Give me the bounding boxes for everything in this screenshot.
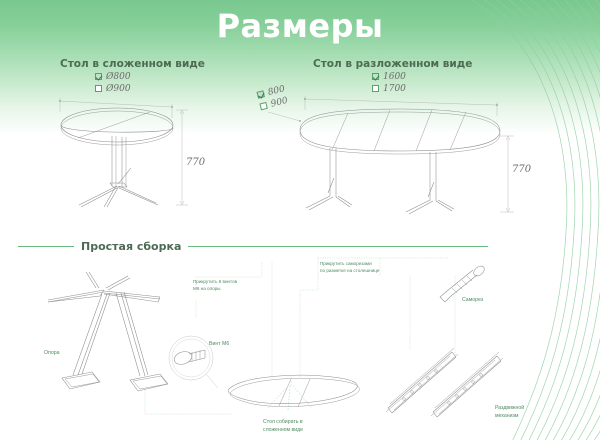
- assembly-divider: Простая сборка: [18, 240, 488, 253]
- dimension-height-folded: 770: [186, 157, 205, 168]
- option-diameter-900[interactable]: Ø900: [95, 83, 131, 94]
- assembly-note-bolts: Прикрутить 8 винтов М6 на опоры: [193, 279, 237, 292]
- option-label: 1700: [383, 84, 406, 94]
- part-label-screw: Саморез: [462, 297, 483, 305]
- checkbox-unchecked-icon[interactable]: [259, 102, 267, 110]
- assembly-heading: Простая сборка: [81, 240, 181, 253]
- drawing-sliding-rails: [386, 348, 503, 417]
- part-label-bolt: Винт М6: [209, 341, 229, 349]
- drawing-support-legs: [48, 272, 168, 391]
- option-label: Ø900: [106, 84, 131, 94]
- option-group-diameter: Ø800 Ø900: [95, 71, 131, 95]
- option-length-1600[interactable]: 1600: [372, 71, 406, 82]
- assembly-connector-lines: [145, 258, 455, 414]
- checkbox-unchecked-icon[interactable]: [372, 85, 379, 92]
- part-label-mechanism: Раздвижной механизм: [495, 405, 524, 420]
- option-label: Ø800: [106, 72, 131, 82]
- checkbox-checked-icon[interactable]: [256, 90, 264, 98]
- section-heading-opened: Стол в разложенном виде: [313, 58, 472, 70]
- tabletop-assembly-note: Стол собирать в сложенном виде: [263, 419, 303, 434]
- divider-line-right: [188, 246, 488, 247]
- checkbox-checked-icon[interactable]: [372, 73, 379, 80]
- option-diameter-800[interactable]: Ø800: [95, 71, 131, 82]
- page-title: Размеры: [0, 7, 600, 45]
- assembly-note-screws: Прикрутить саморезами по разметке на сто…: [320, 261, 379, 274]
- divider-line-left: [18, 246, 74, 247]
- infographic-page: Размеры Стол в сложенном виде Стол в раз…: [0, 0, 600, 440]
- checkbox-unchecked-icon[interactable]: [95, 85, 102, 92]
- option-length-1700[interactable]: 1700: [372, 83, 406, 94]
- option-label: 1600: [383, 72, 406, 82]
- dimension-height-opened: 770: [512, 164, 531, 175]
- drawing-tabletop-underside: [228, 374, 359, 410]
- checkbox-checked-icon[interactable]: [95, 73, 102, 80]
- part-label-support: Опора: [44, 350, 60, 358]
- section-heading-folded: Стол в сложенном виде: [60, 58, 205, 70]
- option-group-length: 1600 1700: [372, 71, 406, 95]
- option-label: 900: [270, 95, 289, 109]
